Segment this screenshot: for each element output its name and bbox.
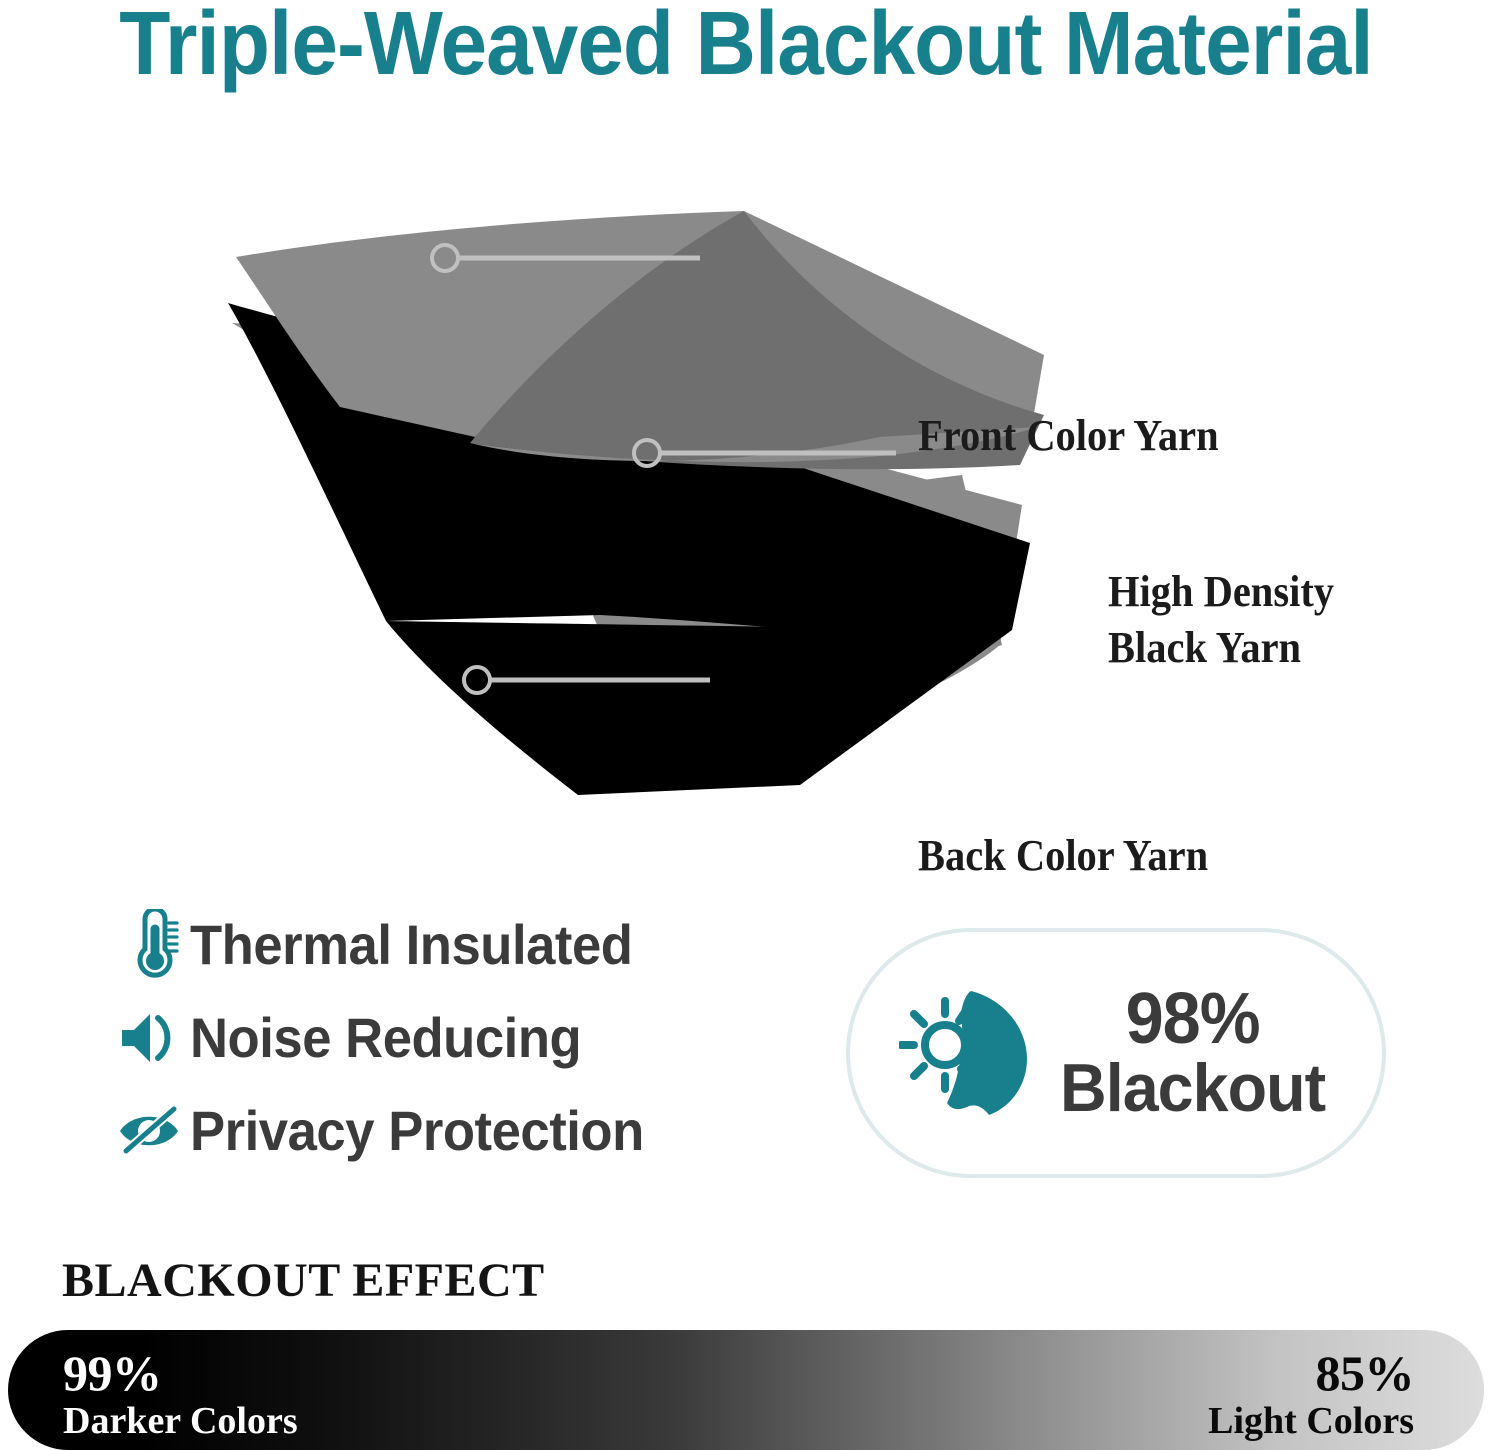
gradient-right-stat: 85% Light Colors xyxy=(1208,1348,1414,1440)
page-title: Triple-Weaved Blackout Material xyxy=(52,0,1440,95)
thermometer-icon xyxy=(112,909,190,981)
blackout-effect-gradient-bar: 99% Darker Colors 85% Light Colors xyxy=(8,1330,1484,1450)
layer-high-density-black-yarn-body xyxy=(386,621,1012,795)
fabric-layers-diagram: Front Color Yarn High Density Black Yarn… xyxy=(0,175,1492,815)
blackout-label: Blackout xyxy=(1060,1055,1325,1122)
gradient-left-stat: 99% Darker Colors xyxy=(63,1348,298,1440)
gradient-right-percent: 85% xyxy=(1208,1348,1414,1398)
eye-slash-icon xyxy=(112,1103,190,1159)
feature-label-privacy-protection: Privacy Protection xyxy=(190,1098,644,1163)
feature-list: Thermal Insulated Noise Reducing Privacy… xyxy=(112,898,812,1177)
blackout-percent: 98% xyxy=(1060,984,1325,1055)
gradient-left-percent: 99% xyxy=(63,1348,298,1398)
label-front-color-yarn: Front Color Yarn xyxy=(918,408,1219,464)
blackout-badge-text: 98% Blackout xyxy=(1060,984,1325,1121)
sun-behind-curtain-icon xyxy=(892,987,1042,1119)
feature-noise-reducing: Noise Reducing xyxy=(112,991,812,1084)
label-high-density-line1: High Density xyxy=(1108,567,1334,616)
gradient-left-sublabel: Darker Colors xyxy=(63,1402,298,1440)
label-high-density-line2: Black Yarn xyxy=(1108,623,1301,672)
gradient-right-sublabel: Light Colors xyxy=(1208,1402,1414,1440)
feature-label-thermal-insulated: Thermal Insulated xyxy=(190,912,632,977)
label-high-density-black-yarn: High Density Black Yarn xyxy=(1108,564,1334,677)
blackout-badge: 98% Blackout xyxy=(846,928,1386,1178)
feature-privacy-protection: Privacy Protection xyxy=(112,1084,812,1177)
speaker-sound-icon xyxy=(112,1010,190,1066)
blackout-effect-heading: BLACKOUT EFFECT xyxy=(62,1253,545,1308)
label-back-color-yarn: Back Color Yarn xyxy=(918,828,1208,884)
feature-label-noise-reducing: Noise Reducing xyxy=(190,1005,581,1070)
feature-thermal-insulated: Thermal Insulated xyxy=(112,898,812,991)
